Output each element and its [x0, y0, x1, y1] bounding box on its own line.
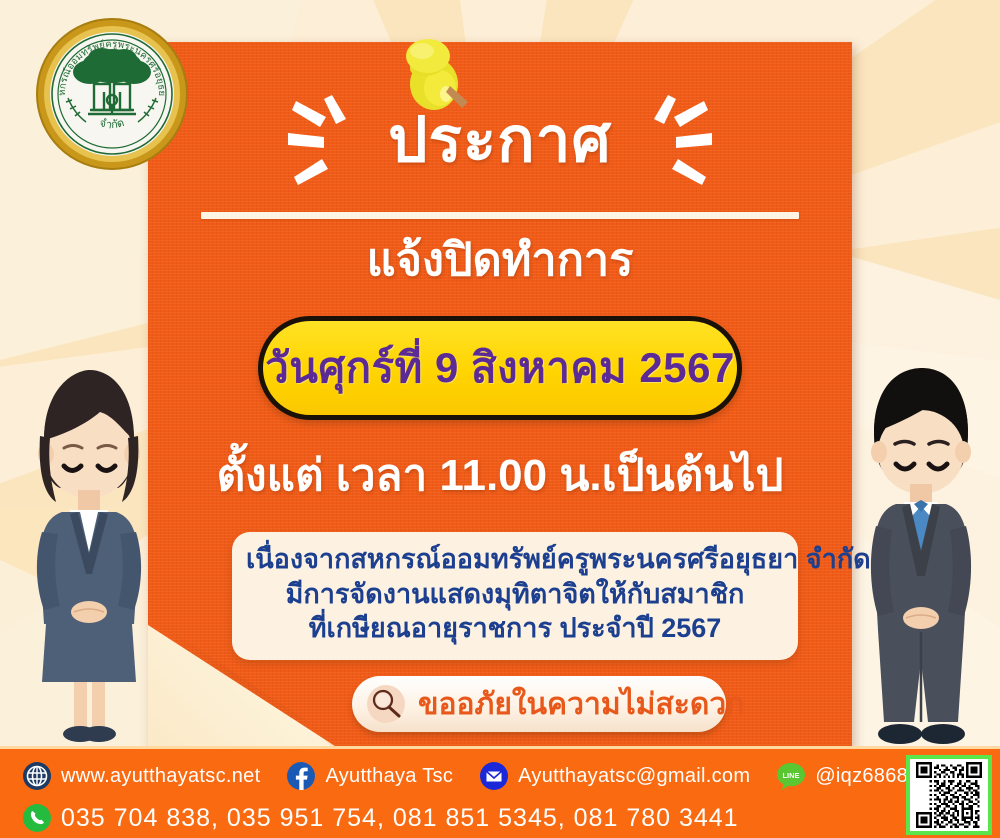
- footer-phone[interactable]: 035 704 838, 035 951 754, 081 851 5345, …: [22, 803, 739, 833]
- email-text: Ayutthayatsc@gmail.com: [518, 765, 750, 788]
- burst-left-icon: [286, 93, 382, 189]
- phone-numbers-text: 035 704 838, 035 951 754, 081 851 5345, …: [61, 804, 739, 833]
- svg-text:LINE: LINE: [783, 771, 800, 780]
- phone-icon: [22, 803, 52, 833]
- headline-block: ประกาศ แจ้งปิดทำการ: [148, 86, 852, 285]
- announcement-poster: สหกรณ์ออมทรัพย์ครูพระนครศรีอยุธยา จำกัด: [0, 0, 1000, 838]
- seal-bottom-text: จำกัด: [98, 117, 125, 132]
- footer-facebook[interactable]: Ayutthaya Tsc: [286, 761, 453, 791]
- facebook-text: Ayutthaya Tsc: [325, 765, 453, 788]
- globe-icon: [22, 761, 52, 791]
- closing-time-text: ตั้งแต่ เวลา 11.00 น.เป็นต้นไป: [148, 440, 852, 510]
- email-icon: [479, 761, 509, 791]
- qr-code-image: [913, 762, 985, 828]
- body-line-2: มีการจัดงานแสดงมุทิตาจิตให้กับสมาชิก: [246, 577, 784, 612]
- title-divider: [201, 212, 799, 219]
- footer-email[interactable]: Ayutthayatsc@gmail.com: [479, 761, 750, 791]
- body-line-1: เนื่องจากสหกรณ์ออมทรัพย์ครูพระนครศรีอยุธ…: [246, 542, 784, 577]
- line-icon: LINE: [776, 761, 806, 791]
- apology-text: ขออภัยในความไม่สะดวก: [418, 681, 744, 728]
- footer-row-contacts: www.ayutthayatsc.net Ayutthaya Tsc Ayutt…: [22, 757, 946, 795]
- magnifier-icon: [366, 684, 406, 724]
- footer-line[interactable]: LINE @iqz6868h: [776, 761, 919, 791]
- page-subtitle: แจ้งปิดทำการ: [148, 235, 852, 285]
- line-id-text: @iqz6868h: [815, 765, 919, 788]
- footer-row-phones: 035 704 838, 035 951 754, 081 851 5345, …: [22, 799, 765, 837]
- facebook-icon: [286, 761, 316, 791]
- footer-website[interactable]: www.ayutthayatsc.net: [22, 761, 260, 791]
- burst-right-icon: [618, 93, 714, 189]
- date-badge: วันศุกร์ที่ 9 สิงหาคม 2567: [258, 316, 742, 420]
- bowing-woman-illustration: [14, 362, 164, 748]
- date-badge-text: วันศุกร์ที่ 9 สิงหาคม 2567: [265, 335, 735, 401]
- page-title: ประกาศ: [382, 108, 618, 173]
- svg-text:จำกัด: จำกัด: [98, 117, 125, 132]
- website-text: www.ayutthayatsc.net: [61, 765, 260, 788]
- apology-pill: ขออภัยในความไม่สะดวก: [352, 676, 726, 732]
- body-line-3: ที่เกษียณอายุราชการ ประจำปี 2567: [246, 611, 784, 646]
- headline-row: ประกาศ: [148, 86, 852, 196]
- qr-code[interactable]: [906, 755, 992, 835]
- contact-footer: www.ayutthayatsc.net Ayutthaya Tsc Ayutt…: [0, 746, 1000, 838]
- body-text-box: เนื่องจากสหกรณ์ออมทรัพย์ครูพระนครศรีอยุธ…: [232, 532, 798, 660]
